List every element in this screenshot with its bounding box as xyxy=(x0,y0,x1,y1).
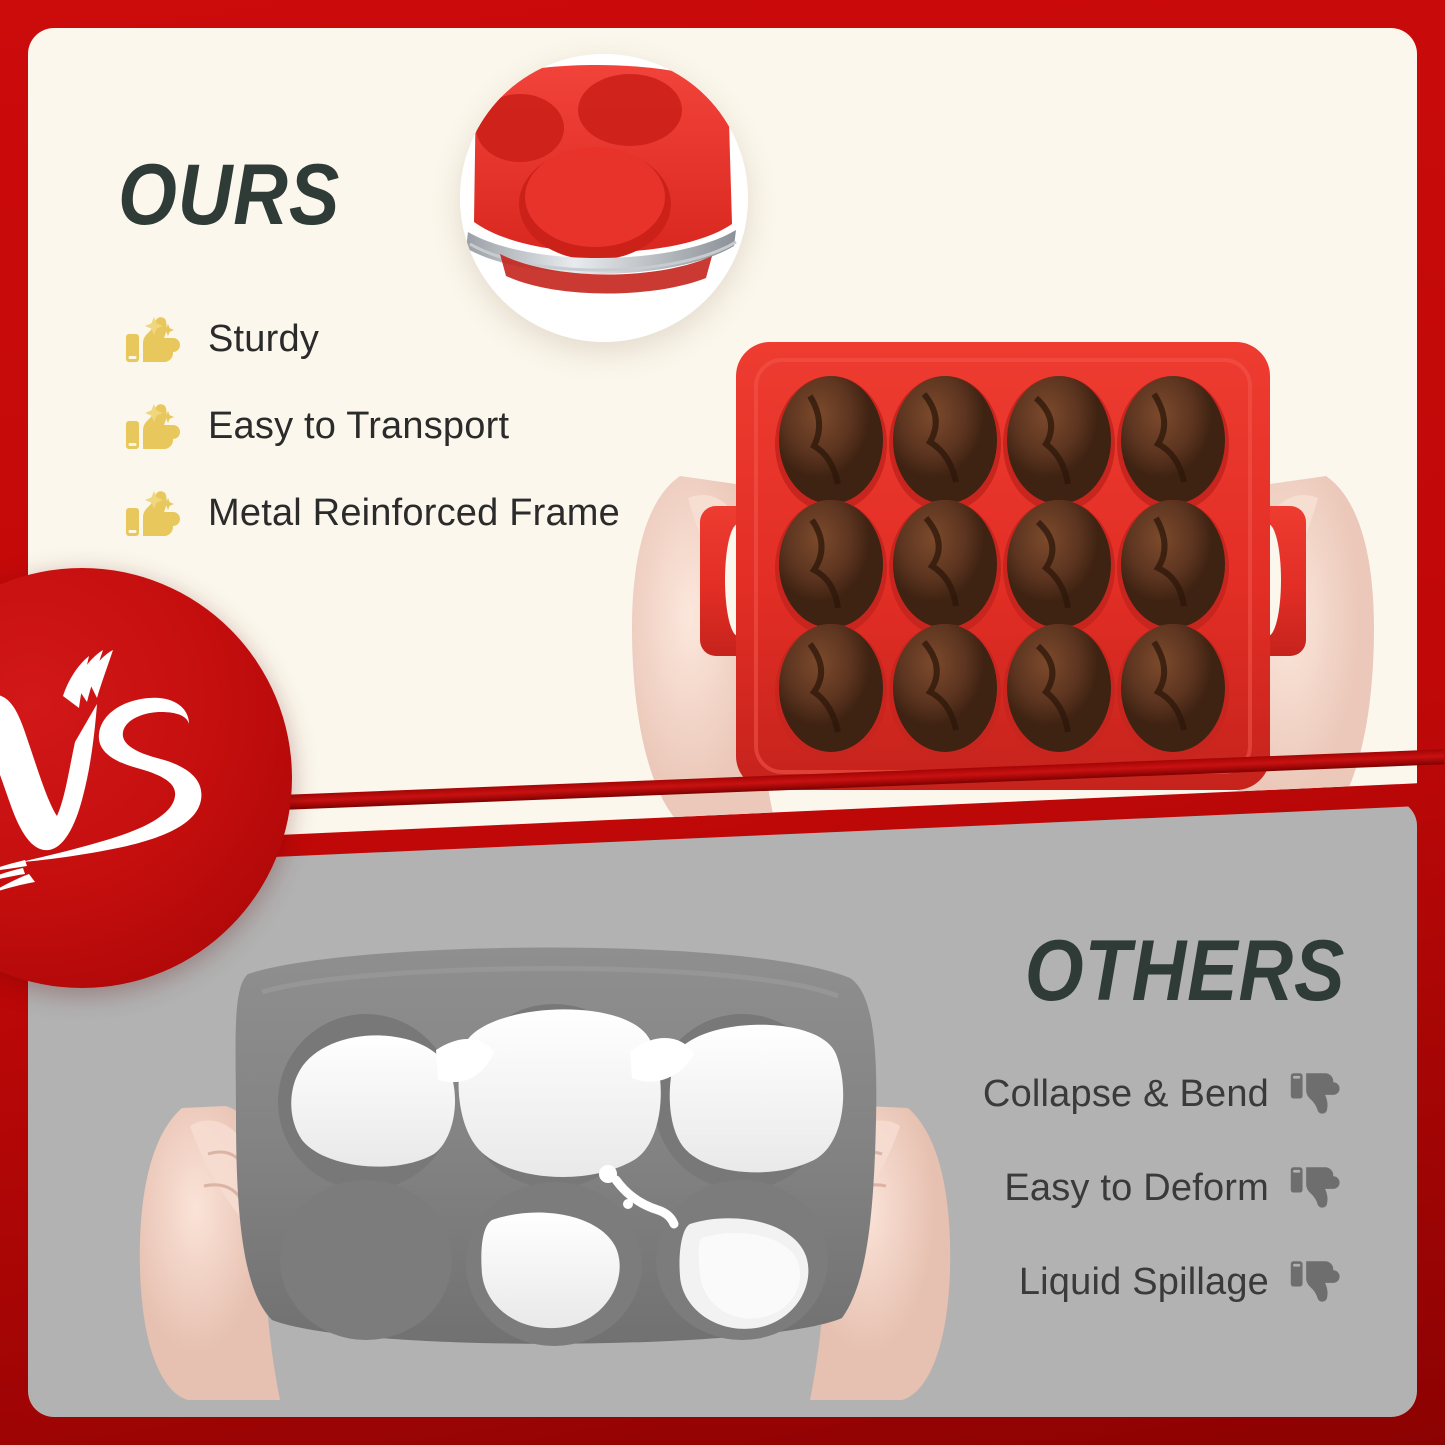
ours-feature-label: Sturdy xyxy=(208,318,319,361)
ours-feature-label: Easy to Transport xyxy=(208,405,509,448)
thumbs-up-sparkle-icon xyxy=(124,395,186,457)
thumbs-up-sparkle-icon xyxy=(124,308,186,370)
ours-feature-label: Metal Reinforced Frame xyxy=(208,492,620,535)
others-heading: OTHERS xyxy=(1024,928,1345,1014)
thumbs-down-icon xyxy=(1289,1160,1345,1216)
infographic-canvas: OURS Sturdy xyxy=(0,0,1445,1445)
thumbs-up-sparkle-icon xyxy=(124,482,186,544)
thumbs-down-icon xyxy=(1289,1066,1345,1122)
ours-product-image xyxy=(588,328,1417,828)
others-feature-label: Liquid Spillage xyxy=(1019,1261,1269,1304)
thumbs-down-icon xyxy=(1289,1254,1345,1310)
others-product-image xyxy=(130,930,960,1400)
ours-heading: OURS xyxy=(118,152,340,238)
metal-frame-closeup-art xyxy=(460,54,748,342)
others-feature-label: Collapse & Bend xyxy=(983,1073,1269,1116)
vs-brush-lettering: VS xyxy=(0,638,245,918)
metal-frame-closeup-badge xyxy=(460,54,748,342)
others-feature-label: Easy to Deform xyxy=(1004,1167,1269,1210)
